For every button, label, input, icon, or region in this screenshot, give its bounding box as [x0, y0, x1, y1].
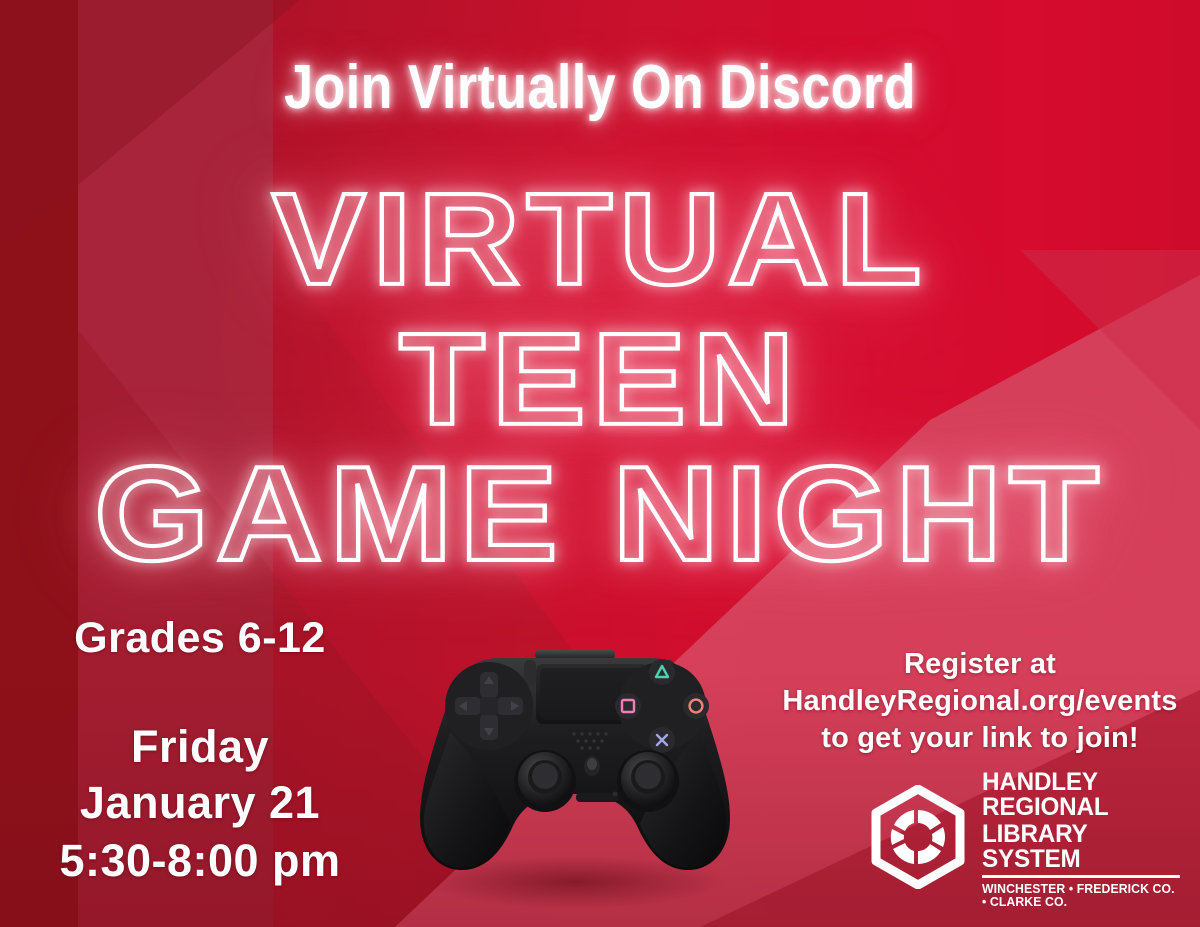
logo-line-3: WINCHESTER • FREDERICK CO. • CLARKE CO.: [982, 883, 1182, 908]
event-day-label: Friday: [0, 723, 400, 770]
controller-center-dot: [613, 792, 618, 797]
hexagon-logo-icon: [866, 785, 970, 889]
event-details: Grades 6-12 Friday January 21 5:30-8:00 …: [0, 616, 400, 885]
controller-lower-center: [576, 793, 618, 802]
logo-line-1: HANDLEY REGIONAL: [982, 770, 1180, 820]
registration-info: Register at HandleyRegional.org/events t…: [770, 646, 1190, 757]
event-time-label: 5:30-8:00 pm: [0, 836, 400, 886]
grades-label: Grades 6-12: [0, 616, 400, 661]
event-date-label: January 21: [0, 778, 400, 828]
controller-thumbstick-left: [514, 750, 576, 812]
register-line-1: Register at: [770, 646, 1190, 683]
controller-light-bar: [535, 650, 615, 659]
library-logo: HANDLEY REGIONAL LIBRARY SYSTEM WINCHEST…: [866, 782, 1186, 892]
controller-svg: [400, 636, 750, 927]
poster-content: Join Virtually On Discord VIRTUAL TEEN G…: [0, 0, 1200, 927]
register-line-3: to get your link to join!: [770, 720, 1190, 757]
poster-title-line-1: VIRTUAL: [0, 165, 1200, 315]
controller-button-triangle-bg: [649, 659, 675, 685]
controller-thumbstick-right: [617, 750, 679, 812]
poster-headline: Join Virtually On Discord: [96, 52, 1104, 123]
controller-button-square-bg: [615, 693, 641, 719]
logo-line-2: LIBRARY SYSTEM: [982, 822, 1180, 878]
event-poster: Join Virtually On Discord VIRTUAL TEEN G…: [0, 0, 1200, 927]
library-logo-text: HANDLEY REGIONAL LIBRARY SYSTEM WINCHEST…: [982, 766, 1186, 908]
register-url[interactable]: HandleyRegional.org/events: [770, 683, 1190, 720]
controller-home-button-highlight: [587, 758, 597, 770]
poster-title-line-2: TEEN: [0, 305, 1200, 455]
controller-button-circle-bg: [683, 693, 709, 719]
game-controller-illustration: [400, 636, 750, 927]
poster-title-line-3: GAME NIGHT: [0, 436, 1200, 590]
